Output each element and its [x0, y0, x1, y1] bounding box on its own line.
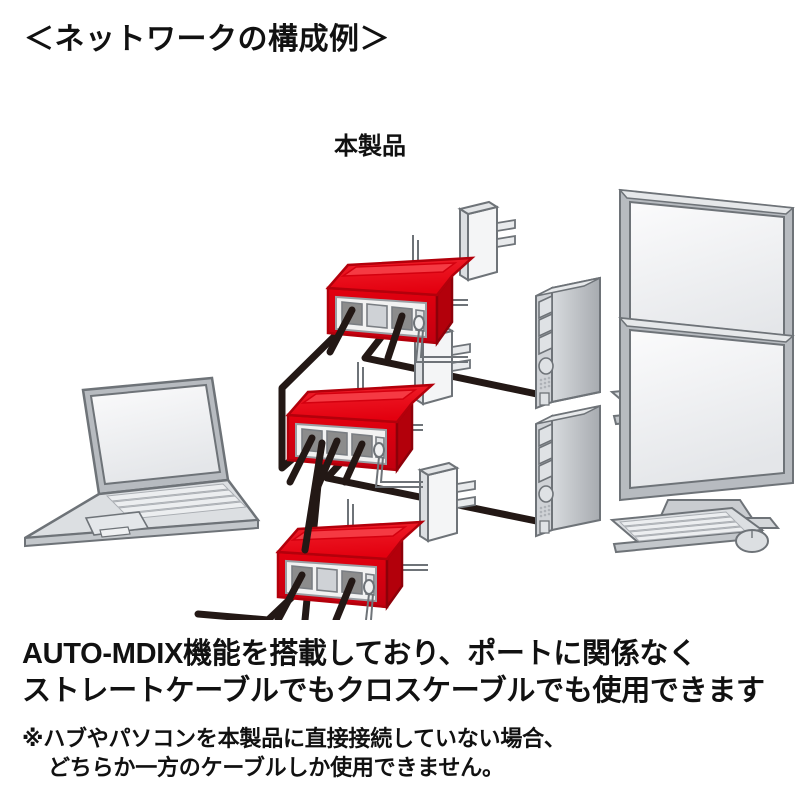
product-label: 本製品	[334, 132, 406, 160]
mouse-bottom	[736, 530, 768, 552]
network-diagram-svg: 本製品	[0, 90, 800, 620]
adapter-prongs-top	[497, 220, 515, 247]
page-root: ＜ネットワークの構成例＞	[0, 0, 800, 800]
caption-line-1: AUTO-MDIX機能を搭載しており、ポートに関係なく	[22, 636, 792, 673]
monitor-bottom	[620, 318, 793, 528]
laptop	[25, 378, 258, 546]
tower-top	[536, 278, 600, 408]
network-diagram: 本製品	[0, 90, 800, 620]
power-button-bottom	[539, 486, 553, 502]
adapter-prongs-bottom	[457, 481, 475, 508]
note-block: ※ハブやパソコンを本製品に直接接続していない場合、 どちらか一方のケーブルしか使…	[22, 724, 792, 783]
page-title: ＜ネットワークの構成例＞	[24, 22, 390, 58]
caption-block: AUTO-MDIX機能を搭載しており、ポートに関係なく ストレートケーブルでもク…	[22, 636, 792, 710]
switch-middle	[288, 385, 432, 470]
note-line-1: ※ハブやパソコンを本製品に直接接続していない場合、	[22, 724, 792, 753]
tower-bottom	[536, 406, 600, 536]
note-line-2: どちらか一方のケーブルしか使用できません。	[22, 753, 792, 782]
power-button-top	[539, 358, 553, 374]
caption-line-2: ストレートケーブルでもクロスケーブルでも使用できます	[22, 673, 792, 710]
